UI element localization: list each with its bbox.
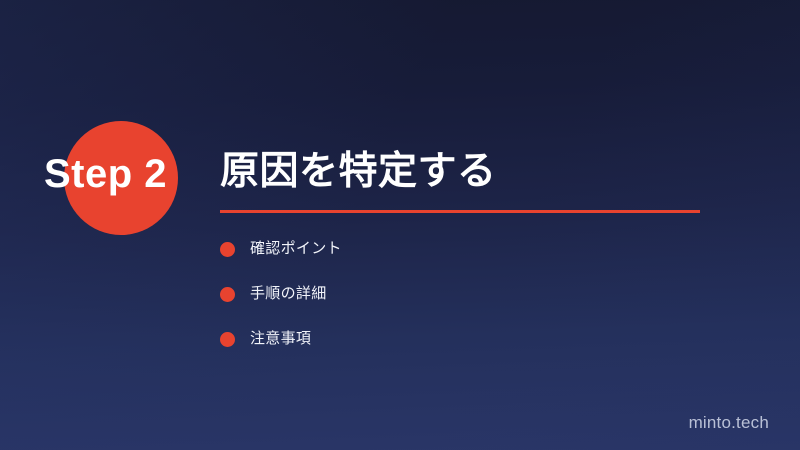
presentation-slide: Step 2 原因を特定する 確認ポイント 手順の詳細 注意事項 minto.t…: [0, 0, 800, 450]
watermark-branding: minto.tech: [689, 413, 769, 433]
bullet-list: 確認ポイント 手順の詳細 注意事項: [220, 241, 342, 347]
bullet-dot-icon: [220, 332, 235, 347]
slide-title: 原因を特定する: [220, 146, 497, 198]
list-item-label: 注意事項: [250, 331, 311, 347]
bullet-dot-icon: [220, 242, 235, 257]
title-underline-rule: [220, 210, 700, 213]
list-item: 確認ポイント: [220, 241, 342, 257]
bullet-dot-icon: [220, 287, 235, 302]
list-item-label: 手順の詳細: [250, 286, 327, 302]
list-item-label: 確認ポイント: [250, 241, 342, 257]
list-item: 注意事項: [220, 331, 342, 347]
list-item: 手順の詳細: [220, 286, 342, 302]
step-badge-label: Step 2: [44, 150, 167, 198]
